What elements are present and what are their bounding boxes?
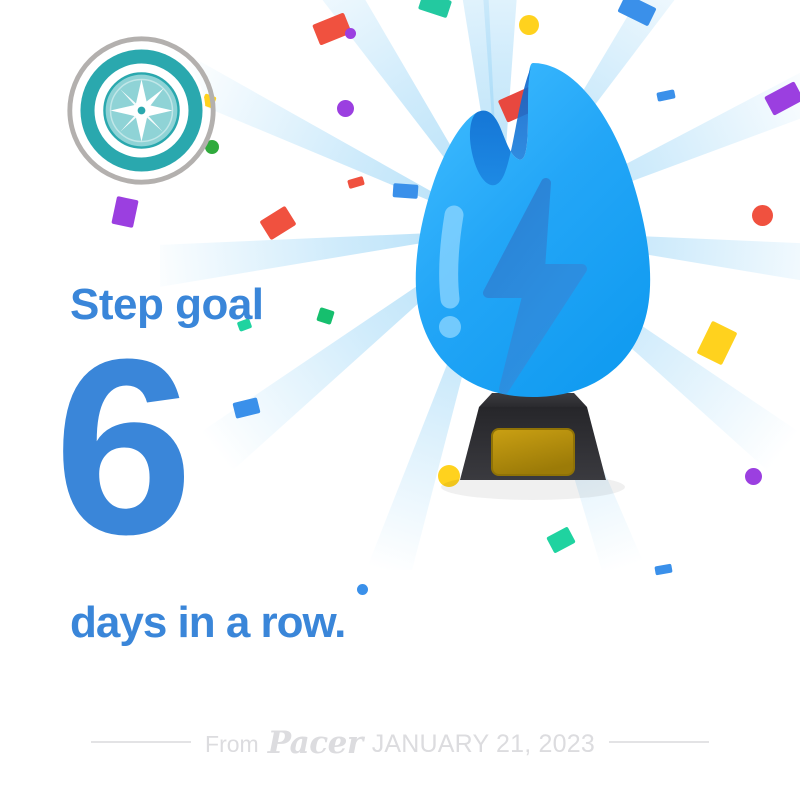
confetti-quad-11 xyxy=(347,176,365,189)
confetti-quad-3 xyxy=(617,0,656,26)
pacer-wordmark: Pacer xyxy=(268,725,363,761)
compass-center-pin xyxy=(138,107,146,115)
confetti-quad-9 xyxy=(111,196,138,228)
streak-count: 6 xyxy=(54,322,187,572)
confetti-quad-21 xyxy=(654,564,672,576)
footer-rule-right xyxy=(609,741,709,743)
flame-shine-stroke xyxy=(449,215,454,299)
confetti-quad-14 xyxy=(697,321,738,366)
confetti-quad-1 xyxy=(418,0,452,18)
footer: From Pacer JANUARY 21, 2023 xyxy=(0,722,800,762)
footer-from-label: From xyxy=(205,731,259,758)
confetti-dot-22 xyxy=(357,584,368,595)
flame-shine-dot xyxy=(439,316,461,338)
confetti-dot-19 xyxy=(745,468,762,485)
confetti-dot-12 xyxy=(752,205,773,226)
achievement-card: Step goal 6 days in a row. From Pacer JA… xyxy=(0,0,800,800)
footer-attribution: From Pacer JANUARY 21, 2023 xyxy=(205,724,595,760)
flame-trophy xyxy=(368,55,698,505)
confetti-quad-15 xyxy=(232,397,260,419)
footer-date: JANUARY 21, 2023 xyxy=(372,730,595,759)
confetti-quad-0 xyxy=(312,12,352,45)
compass-achievement-badge xyxy=(64,33,219,188)
confetti-quad-5 xyxy=(764,81,800,116)
confetti-quad-10 xyxy=(259,206,296,241)
confetti-quad-20 xyxy=(546,526,576,553)
confetti-dot-6 xyxy=(337,100,354,117)
trophy-plaque xyxy=(492,429,574,475)
confetti-quad-16 xyxy=(316,307,335,325)
confetti-dot-2 xyxy=(519,15,539,35)
streak-subtitle: days in a row. xyxy=(70,601,345,645)
confetti-dot-4 xyxy=(345,28,356,39)
footer-rule-left xyxy=(91,741,191,743)
